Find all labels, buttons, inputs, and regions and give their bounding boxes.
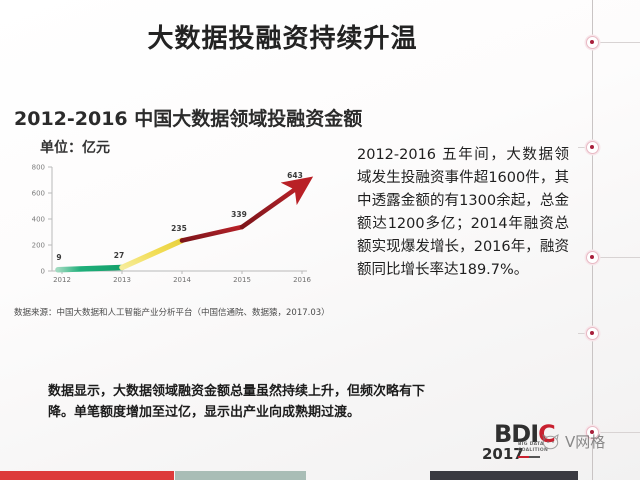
series-segment-2014-2015 — [182, 227, 242, 241]
y-tick-800: 800 — [32, 164, 45, 172]
rail-tick-1 — [599, 42, 640, 43]
rail-node-1[interactable] — [586, 36, 599, 49]
body-paragraph: 2012-2016 五年间，大数据领域发生投融资事件超1600件，其中透露金额的… — [357, 144, 569, 281]
chart-unit-label: 单位：亿元 — [40, 137, 350, 157]
y-tick-0: 0 — [41, 268, 45, 276]
x-tick-2015: 2015 — [233, 276, 251, 284]
chart-axes — [52, 167, 307, 271]
rail-node-4[interactable] — [586, 327, 599, 340]
rail-node-dot-icon — [590, 145, 594, 149]
point-label-2016: 643 — [287, 171, 303, 180]
page-title: 大数据投融资持续升温 — [0, 18, 565, 55]
watermark-label: V网格 — [565, 431, 605, 452]
watermark: V网格 — [540, 431, 605, 452]
y-tick-200: 200 — [32, 242, 45, 250]
point-label-2014: 235 — [171, 224, 187, 233]
x-tick-2014: 2014 — [173, 276, 191, 284]
chart-x-tick-labels: 2012 2013 2014 2015 2016 — [53, 276, 311, 284]
y-tick-400: 400 — [32, 216, 45, 224]
timeline-rail — [592, 0, 593, 480]
conclusion-text: 数据显示，大数据领域融资金额总量虽然持续上升，但频次略有下降。单笔额度增加至过亿… — [48, 381, 440, 424]
x-tick-2016: 2016 — [293, 276, 311, 284]
rail-tick-3 — [599, 257, 640, 258]
bar-dark — [430, 471, 578, 480]
chart-title: 2012-2016 中国大数据领域投融资金额 — [14, 104, 350, 131]
point-label-2012: 9 — [56, 253, 61, 262]
series-segment-2015-2016 — [242, 188, 297, 227]
bottom-bar — [0, 471, 640, 480]
chart-y-ticks — [48, 167, 52, 271]
point-label-2015: 339 — [231, 210, 247, 219]
x-tick-2013: 2013 — [113, 276, 131, 284]
chart-source-footnote: 数据来源：中国大数据和人工智能产业分析平台（中国信通院、数据猿，2017.03） — [14, 307, 334, 320]
bar-red — [0, 471, 174, 480]
chart-y-tick-labels: 0 200 400 600 800 — [32, 164, 45, 276]
series-segment-2012-2013 — [58, 268, 122, 270]
bar-sage — [175, 471, 306, 480]
rail-node-dot-icon — [590, 255, 594, 259]
rail-node-2[interactable] — [586, 141, 599, 154]
x-tick-2012: 2012 — [53, 276, 71, 284]
rail-node-dot-icon — [590, 331, 594, 335]
cat-face-icon — [540, 433, 562, 451]
y-tick-600: 600 — [32, 190, 45, 198]
rail-node-3[interactable] — [586, 251, 599, 264]
rail-node-dot-icon — [590, 40, 594, 44]
line-chart-svg: 0 200 400 600 800 2012 2013 — [14, 159, 314, 299]
point-label-2013: 27 — [114, 251, 124, 260]
chart-canvas: 0 200 400 600 800 2012 2013 — [14, 159, 314, 299]
chart-point-labels: 9 27 235 339 643 — [56, 171, 302, 262]
series-segment-2013-2014 — [122, 241, 182, 268]
slide-canvas: 大数据投融资持续升温 2012-2016 中国大数据领域投融资金额 单位：亿元 — [0, 0, 640, 480]
chart-block: 2012-2016 中国大数据领域投融资金额 单位：亿元 — [14, 104, 350, 320]
bdic-rule — [518, 456, 540, 458]
